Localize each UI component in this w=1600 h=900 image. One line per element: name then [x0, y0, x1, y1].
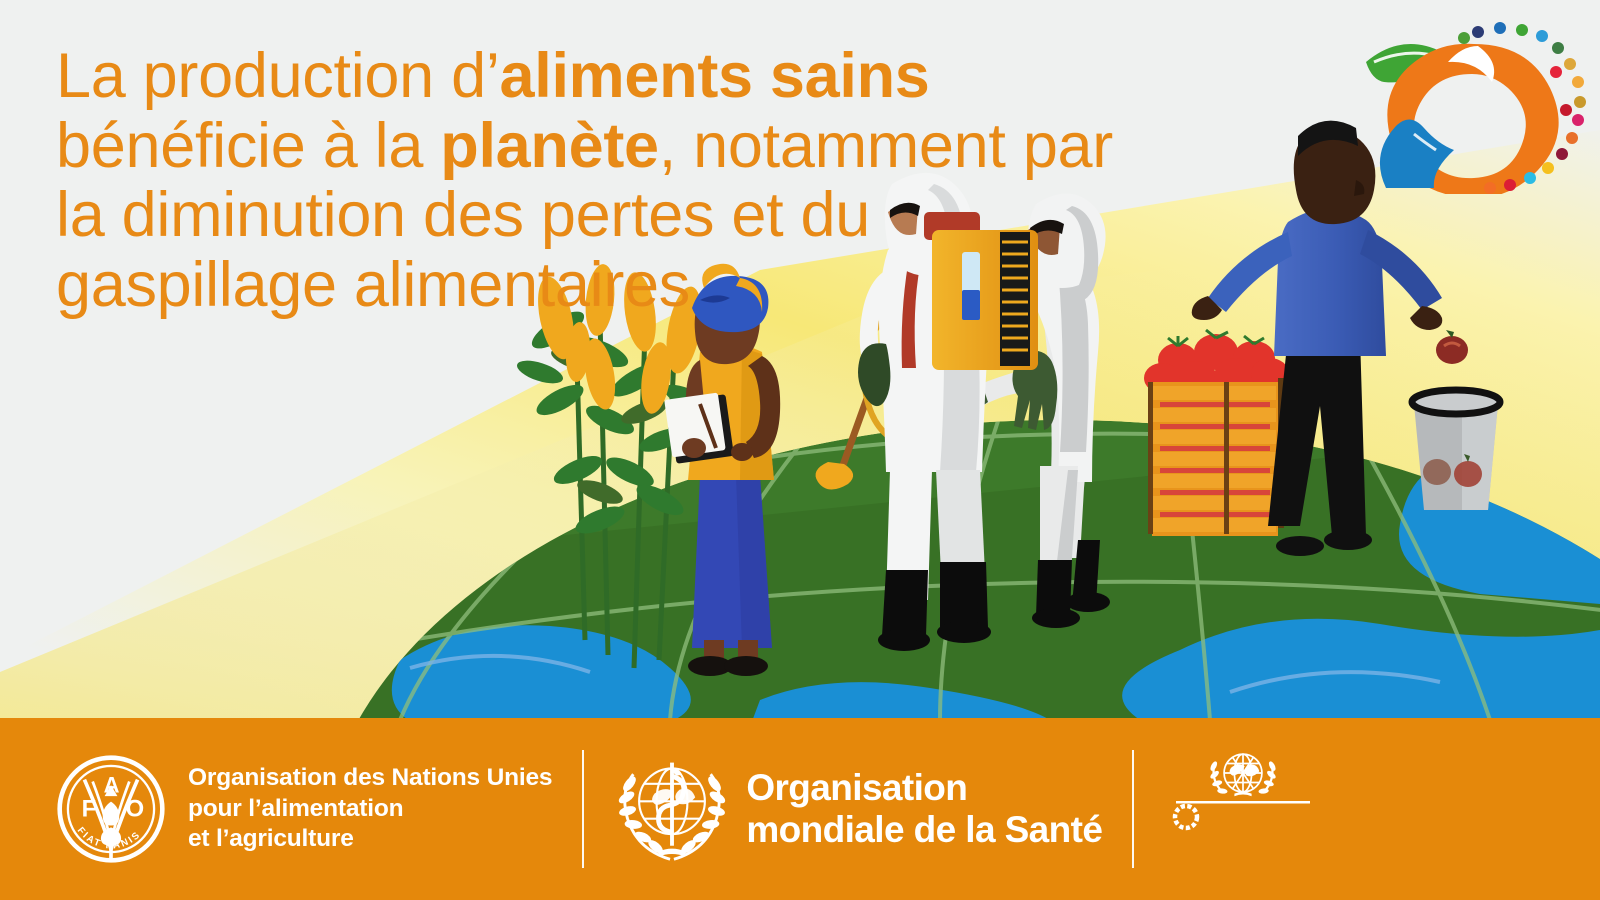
footer-bar: F A O FIAT PANIS Organisation des Nation… — [0, 718, 1600, 900]
fao-name-text: Organisation des Nations Unies pour l’al… — [188, 763, 552, 856]
sdg-logo-block: OBJECTIFS DE DÉVELOPPEMENT DURABLE — [1164, 718, 1322, 900]
who-logo-block: Organisation mondiale de la Santé — [614, 718, 1102, 900]
fao-line-3: et l’agriculture — [188, 824, 552, 855]
headline-part-1: La production d’ — [56, 41, 500, 111]
footer-divider-1 — [582, 750, 584, 868]
fao-line-2: pour l’alimentation — [188, 794, 552, 825]
svg-text:O: O — [126, 795, 145, 822]
headline-part-3: bénéficie à la — [56, 111, 440, 181]
fao-logo-block: F A O FIAT PANIS Organisation des Nation… — [0, 718, 552, 900]
svg-text:F: F — [82, 795, 97, 822]
poster-root: La production d’aliments sains bénéficie… — [0, 0, 1600, 900]
waste-bin — [1412, 390, 1500, 510]
un-sdg-emblem-icon — [1164, 747, 1322, 871]
spoiled-tomato — [1436, 330, 1468, 364]
headline-bold-aliments-sains: aliments sains — [500, 41, 930, 111]
headline: La production d’aliments sains bénéficie… — [56, 42, 1156, 320]
who-line-2: mondiale de la Santé — [746, 809, 1102, 851]
world-food-safety-day-logo — [1352, 18, 1588, 194]
fao-line-1: Organisation des Nations Unies — [188, 763, 552, 794]
footer-divider-2 — [1132, 750, 1134, 868]
who-emblem-icon — [614, 751, 730, 867]
who-name-text: Organisation mondiale de la Santé — [746, 767, 1102, 851]
fao-emblem-icon: F A O FIAT PANIS — [56, 754, 166, 864]
tomato-crates — [1144, 330, 1289, 536]
who-line-1: Organisation — [746, 767, 1102, 809]
svg-text:A: A — [104, 773, 120, 798]
headline-bold-planete: planète — [440, 111, 658, 181]
glove-left — [858, 343, 890, 406]
